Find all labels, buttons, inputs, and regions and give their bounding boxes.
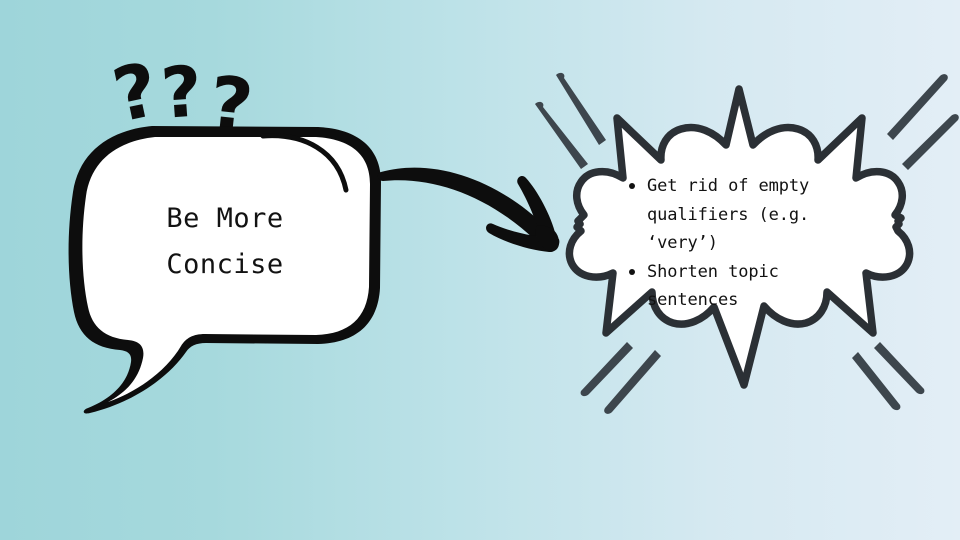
- list-item: Shorten topic sentences: [626, 258, 876, 315]
- slide-canvas: ? ? ?: [0, 0, 960, 540]
- speech-bubble-fill: [82, 137, 370, 402]
- speech-bubble-shape: [69, 126, 381, 413]
- list-item: Get rid of empty qualifiers (e.g. ‘very’…: [626, 172, 876, 258]
- burst-bullet-list: Get rid of empty qualifiers (e.g. ‘very’…: [626, 172, 876, 315]
- question-mark-icon-2: ?: [158, 50, 204, 135]
- bullet-text: Get rid of empty qualifiers (e.g. ‘very’…: [647, 176, 809, 253]
- bullet-text: Shorten topic sentences: [647, 262, 779, 311]
- curved-arrow-icon: [378, 168, 560, 252]
- bullet-dot-icon: [629, 269, 635, 275]
- bullet-dot-icon: [629, 183, 635, 189]
- question-mark-icon-1: ?: [106, 47, 166, 140]
